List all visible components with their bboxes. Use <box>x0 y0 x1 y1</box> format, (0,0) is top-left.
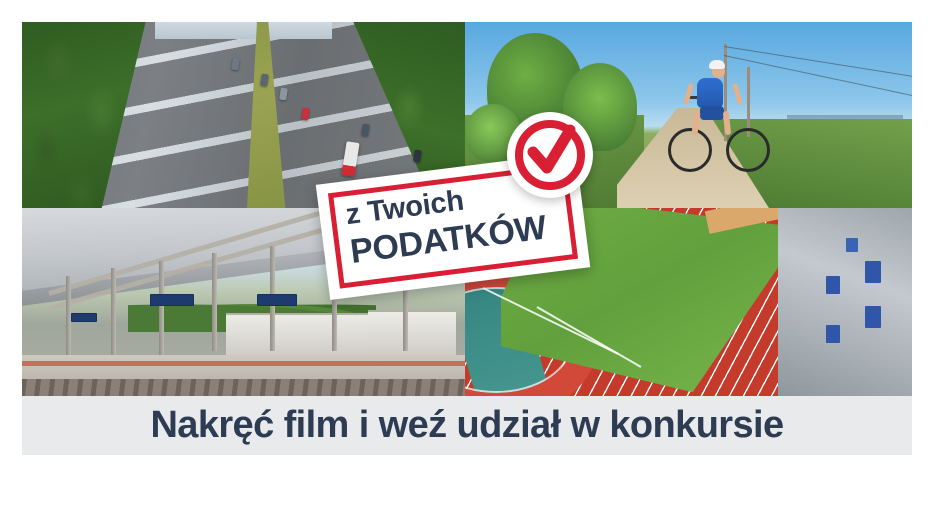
railway-tracks <box>22 379 465 396</box>
poster: z Twoich PODATKÓW Nakręć film i weź udzi… <box>0 0 936 527</box>
seat-block <box>826 325 840 343</box>
rider-torso <box>697 78 723 108</box>
rider-arm <box>683 83 694 106</box>
grass-median <box>226 22 297 208</box>
utility-pole <box>747 67 750 138</box>
canopy-column <box>159 261 164 355</box>
canopy-column <box>212 253 217 351</box>
truck <box>341 141 359 177</box>
seat-block <box>826 276 840 294</box>
canopy-column <box>111 268 116 358</box>
seat-block <box>865 306 881 328</box>
station-building <box>368 310 457 355</box>
platform-edge-line <box>22 361 465 366</box>
car <box>301 108 310 121</box>
car <box>279 88 288 101</box>
seat-block <box>865 261 881 283</box>
platform-display-sign <box>71 313 97 322</box>
footer: Ministerstwo Finansów Krajowa Administra… <box>0 462 936 527</box>
station-building <box>226 313 377 354</box>
rider-arm <box>732 83 743 106</box>
seat-block <box>846 238 858 252</box>
page-title: Nakręć film i weź udział w konkursie <box>22 396 912 455</box>
headline-band: Nakręć film i weź udział w konkursie <box>22 396 912 455</box>
platform-display-sign <box>257 294 297 306</box>
grandstand <box>778 208 912 396</box>
sky <box>155 22 332 39</box>
forest-left <box>22 22 221 208</box>
platform-display-sign <box>150 294 194 306</box>
car <box>231 58 240 71</box>
check-circle-icon <box>507 112 593 198</box>
rider-helmet <box>709 60 725 69</box>
car <box>361 124 370 137</box>
rider-shorts <box>700 106 724 120</box>
